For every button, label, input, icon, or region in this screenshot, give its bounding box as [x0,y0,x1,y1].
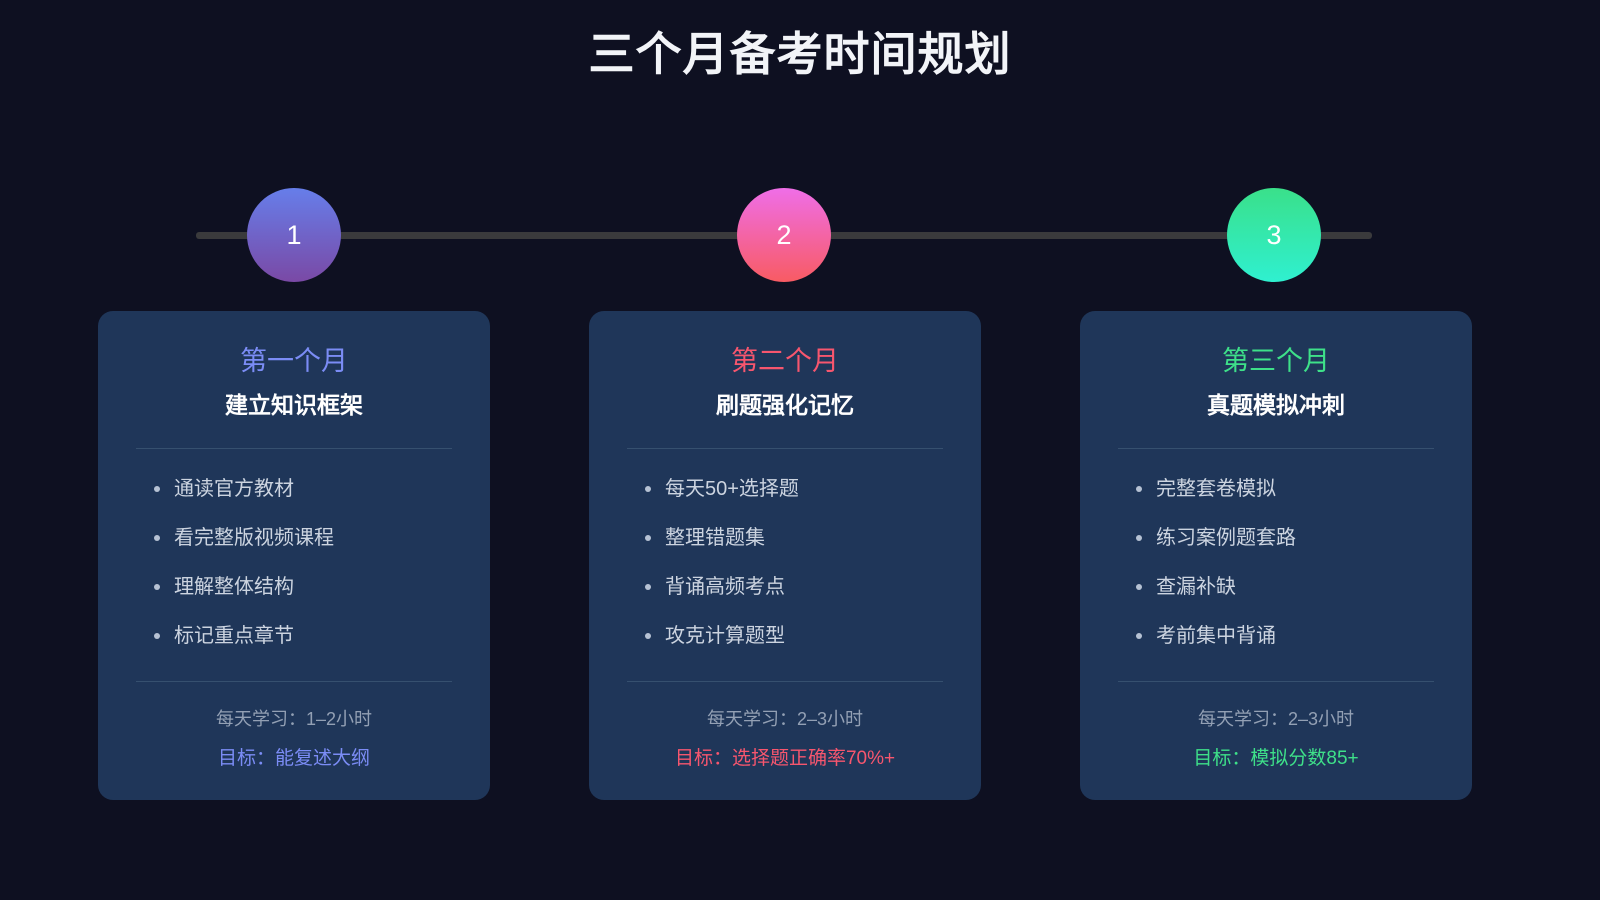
bullet-icon [1136,486,1142,492]
bullet-icon [1136,584,1142,590]
list-item: 看完整版视频课程 [174,522,454,554]
month-theme-1: 建立知识框架 [134,387,454,423]
month-theme-2: 刷题强化记忆 [625,387,945,423]
card-divider-top-2 [627,448,943,449]
list-item: 攻克计算题型 [665,620,945,652]
task-list-2: 每天50+选择题 整理错题集 背诵高频考点 攻克计算题型 [625,473,945,669]
task-label: 理解整体结构 [174,576,294,598]
timeline-node-3-label: 3 [1266,220,1281,251]
bullet-icon [154,584,160,590]
study-plan-infographic: 三个月备考时间规划 1 2 3 第一个月 建立知识框架 通读官方教材 看完整版视… [0,0,1600,900]
card-divider-bottom-1 [136,681,452,682]
daily-hours-1: 每天学习：1–2小时 [134,704,454,734]
timeline-node-2-label: 2 [776,220,791,251]
task-label: 每天50+选择题 [665,478,799,500]
list-item: 每天50+选择题 [665,473,945,505]
bullet-icon [154,486,160,492]
bullet-icon [645,633,651,639]
month-card-2[interactable]: 第二个月 刷题强化记忆 每天50+选择题 整理错题集 背诵高频考点 [589,311,981,800]
card-divider-top-1 [136,448,452,449]
task-label: 看完整版视频课程 [174,527,334,549]
goal-label-1: 目标：能复述大纲 [134,744,454,774]
list-item: 标记重点章节 [174,620,454,652]
month-label-2: 第二个月 [625,341,945,381]
timeline-node-1-label: 1 [286,220,301,251]
task-label: 攻克计算题型 [665,625,785,647]
month-label-1: 第一个月 [134,341,454,381]
daily-hours-2: 每天学习：2–3小时 [625,704,945,734]
card-divider-bottom-3 [1118,681,1434,682]
list-item: 练习案例题套路 [1156,522,1436,554]
goal-label-3: 目标：模拟分数85+ [1116,744,1436,774]
bullet-icon [1136,633,1142,639]
timeline-node-2[interactable]: 2 [737,188,831,282]
list-item: 通读官方教材 [174,473,454,505]
bullet-icon [1136,535,1142,541]
bullet-icon [645,535,651,541]
task-label: 通读官方教材 [174,478,294,500]
timeline-node-3[interactable]: 3 [1227,188,1321,282]
daily-hours-3: 每天学习：2–3小时 [1116,704,1436,734]
task-label: 考前集中背诵 [1156,625,1276,647]
list-item: 整理错题集 [665,522,945,554]
bullet-icon [645,486,651,492]
task-label: 完整套卷模拟 [1156,478,1276,500]
task-label: 练习案例题套路 [1156,527,1296,549]
task-label: 背诵高频考点 [665,576,785,598]
month-label-3: 第三个月 [1116,341,1436,381]
card-divider-top-3 [1118,448,1434,449]
goal-label-2: 目标：选择题正确率70%+ [625,744,945,774]
list-item: 考前集中背诵 [1156,620,1436,652]
list-item: 背诵高频考点 [665,571,945,603]
task-label: 整理错题集 [665,527,765,549]
bullet-icon [154,535,160,541]
task-label: 标记重点章节 [174,625,294,647]
list-item: 查漏补缺 [1156,571,1436,603]
list-item: 完整套卷模拟 [1156,473,1436,505]
month-theme-3: 真题模拟冲刺 [1116,387,1436,423]
month-card-list: 第一个月 建立知识框架 通读官方教材 看完整版视频课程 理解整体结构 [98,311,1472,800]
bullet-icon [645,584,651,590]
page-title: 三个月备考时间规划 [0,22,1600,86]
month-card-3[interactable]: 第三个月 真题模拟冲刺 完整套卷模拟 练习案例题套路 查漏补缺 考 [1080,311,1472,800]
list-item: 理解整体结构 [174,571,454,603]
timeline-node-1[interactable]: 1 [247,188,341,282]
task-list-1: 通读官方教材 看完整版视频课程 理解整体结构 标记重点章节 [134,473,454,669]
task-list-3: 完整套卷模拟 练习案例题套路 查漏补缺 考前集中背诵 [1116,473,1436,669]
card-divider-bottom-2 [627,681,943,682]
bullet-icon [154,633,160,639]
month-card-1[interactable]: 第一个月 建立知识框架 通读官方教材 看完整版视频课程 理解整体结构 [98,311,490,800]
task-label: 查漏补缺 [1156,576,1236,598]
